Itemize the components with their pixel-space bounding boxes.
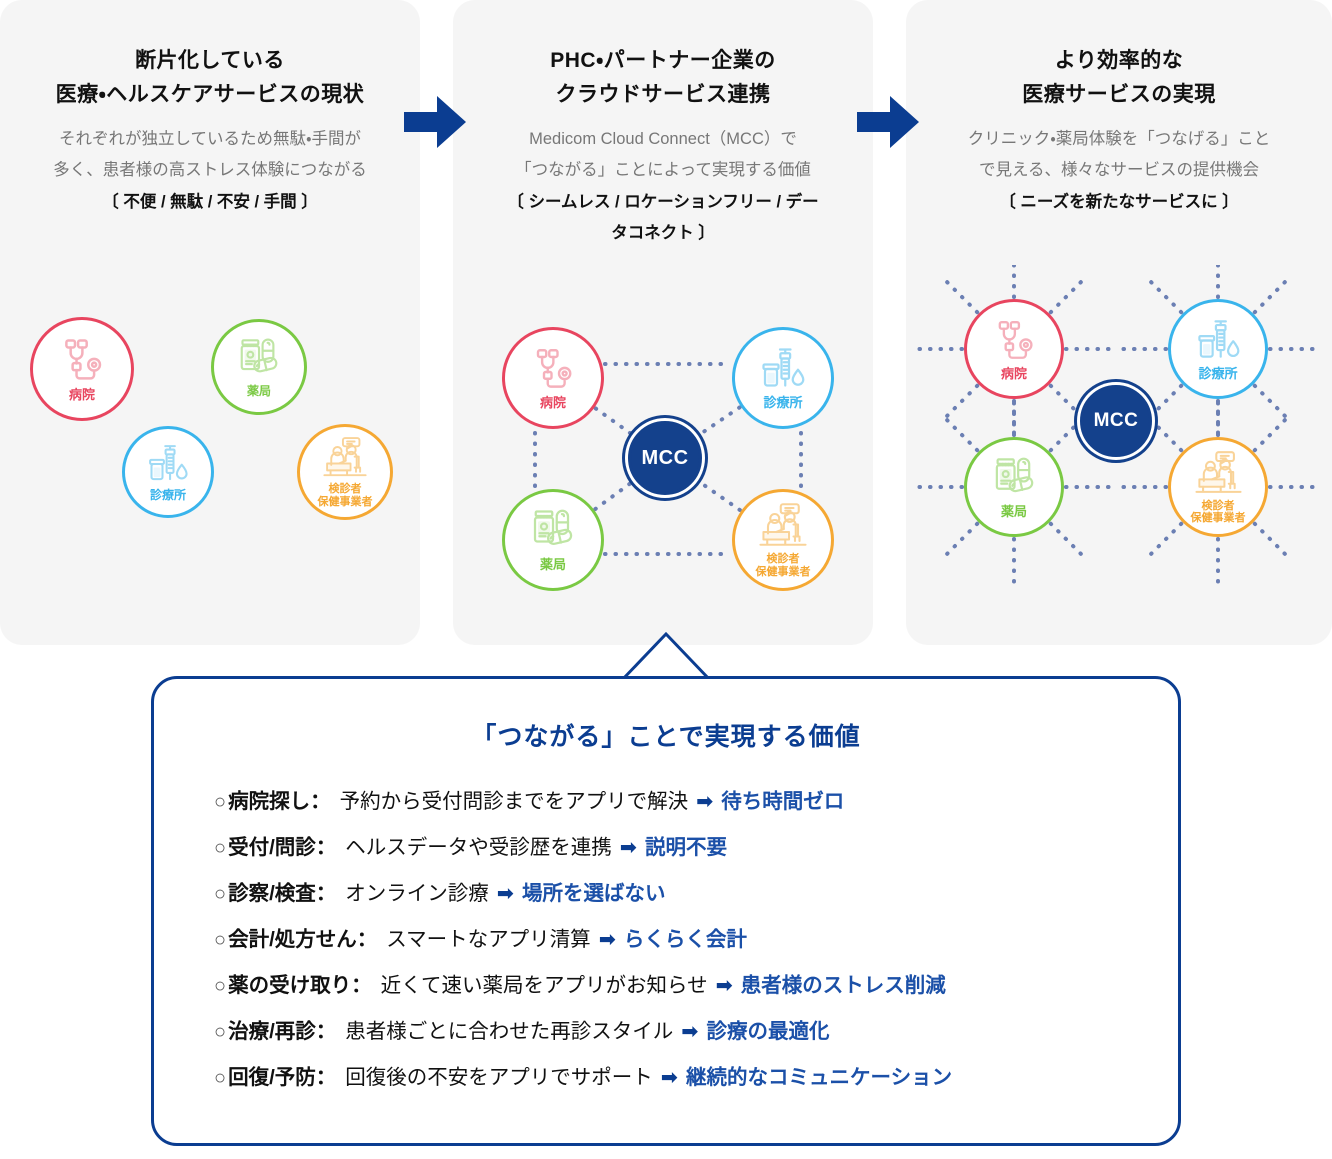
- value-result: 継続的なコミュニケーション: [686, 1055, 952, 1101]
- arrow-right-icon: [404, 92, 468, 152]
- value-colon: ：: [316, 1009, 337, 1055]
- panel-title-line2: 医療サービスの実現: [922, 78, 1316, 112]
- node-examiner: 検診者 保健事業者: [297, 424, 393, 520]
- value-label: 病院探し: [228, 779, 310, 825]
- value-description: 予約から受付問診までをアプリで解決: [340, 779, 689, 825]
- stethoscope-icon: [57, 335, 107, 385]
- node-label: 病院: [69, 388, 95, 403]
- panel-desc-line1: Medicom Cloud Connect（MCC）で: [471, 124, 855, 155]
- node-hospital: 病院: [502, 327, 604, 429]
- panel-description: クリニック・薬局体験を「つなげる」こと で見える、様々なサービスの提供機会: [906, 124, 1332, 186]
- value-result: 場所を選ばない: [522, 871, 666, 917]
- mcc-hub-label: MCC: [641, 447, 688, 470]
- value-result: らくらく会計: [624, 917, 747, 963]
- value-box-title: 「つながる」ことで実現する価値: [154, 717, 1178, 753]
- panel-title: 断片化している 医療・ヘルスケアサービスの現状: [0, 44, 420, 112]
- arrow-right-icon: ➡: [696, 779, 713, 825]
- syringe-vial-icon: [759, 345, 807, 393]
- panel-tags-line2: タコネクト 〕: [471, 218, 855, 249]
- bullet-circle-icon: ○: [214, 1055, 226, 1101]
- panel-description: Medicom Cloud Connect（MCC）で 「つながる」ことによって…: [453, 124, 873, 186]
- panel-title-line1: PHC・パートナー企業の: [469, 44, 857, 78]
- panel-title-line2: クラウドサービス連携: [469, 78, 857, 112]
- node-examiner: 検診者 保健事業者: [1168, 437, 1268, 537]
- consultation-desk-icon: [323, 436, 367, 480]
- node-label: 薬局: [540, 558, 566, 573]
- value-row: ○受付/問診：ヘルスデータや受診歴を連携➡説明不要: [214, 825, 1178, 871]
- value-label: 回復/予防: [228, 1055, 316, 1101]
- callout-pointer-icon: [620, 630, 712, 682]
- node-label: 診療所: [1198, 367, 1237, 382]
- node-label: 病院: [1001, 367, 1027, 382]
- value-colon: ：: [316, 871, 337, 917]
- stethoscope-icon: [991, 317, 1038, 364]
- consultation-desk-icon: [759, 502, 807, 550]
- bullet-circle-icon: ○: [214, 779, 226, 825]
- node-clinic: 診療所: [122, 426, 214, 518]
- node-label: 検診者 保健事業者: [756, 553, 811, 578]
- value-result: 説明不要: [645, 825, 727, 871]
- consultation-desk-icon: [1195, 450, 1242, 497]
- node-hospital: 病院: [30, 317, 134, 421]
- panel-description: それぞれが独立しているため無駄・手間が 多く、患者様の高ストレス体験につながる: [0, 124, 420, 186]
- panel-desc-line2: 「つながる」ことによって実現する価値: [471, 155, 855, 186]
- stethoscope-icon: [529, 345, 577, 393]
- medicine-bottle-icon: [236, 336, 282, 382]
- node-pharmacy: 薬局: [211, 319, 307, 415]
- value-result: 待ち時間ゼロ: [721, 779, 844, 825]
- bullet-circle-icon: ○: [214, 917, 226, 963]
- node-pharmacy: 薬局: [964, 437, 1064, 537]
- bullet-circle-icon: ○: [214, 1009, 226, 1055]
- syringe-vial-icon: [146, 442, 190, 486]
- node-examiner: 検診者 保健事業者: [732, 489, 834, 591]
- value-colon: ：: [357, 917, 378, 963]
- medicine-bottle-icon: [991, 455, 1038, 502]
- panel-tags: 〔 シームレス / ロケーションフリー / デー タコネクト 〕: [453, 187, 873, 249]
- node-label: 検診者 保健事業者: [1191, 500, 1246, 525]
- panel-title: より効率的な 医療サービスの実現: [906, 44, 1332, 112]
- panel-desc-line2: で見える、様々なサービスの提供機会: [924, 155, 1314, 186]
- node-label: 診療所: [763, 396, 802, 411]
- value-description: ヘルスデータや受診歴を連携: [345, 825, 612, 871]
- diagram-stage: 断片化している 医療・ヘルスケアサービスの現状 それぞれが独立しているため無駄・…: [0, 0, 1332, 1159]
- value-description: スマートなアプリ清算: [386, 917, 590, 963]
- mcc-hub-label: MCC: [1094, 410, 1139, 432]
- arrow-right-icon: ➡: [681, 1009, 698, 1055]
- node-pharmacy: 薬局: [502, 489, 604, 591]
- value-row: ○診察/検査：オンライン診療➡場所を選ばない: [214, 871, 1178, 917]
- panel-title: PHC・パートナー企業の クラウドサービス連携: [453, 44, 873, 112]
- bullet-circle-icon: ○: [214, 825, 226, 871]
- arrow-right-icon: ➡: [620, 825, 637, 871]
- value-colon: ：: [316, 825, 337, 871]
- panel-title-line1: 断片化している: [16, 44, 404, 78]
- value-colon: ：: [316, 1055, 337, 1101]
- value-callout-box: 「つながる」ことで実現する価値 ○病院探し：予約から受付問診までをアプリで解決➡…: [151, 676, 1181, 1146]
- arrow-right-icon: ➡: [497, 871, 514, 917]
- node-clinic: 診療所: [732, 327, 834, 429]
- value-description: 患者様ごとに合わせた再診スタイル: [345, 1009, 673, 1055]
- value-label: 治療/再診: [228, 1009, 316, 1055]
- arrow-right-icon: ➡: [661, 1055, 678, 1101]
- node-label: 薬局: [1001, 505, 1027, 520]
- arrow-right-icon: [857, 92, 921, 152]
- value-result: 診療の最適化: [706, 1009, 829, 1055]
- arrow-right-icon: ➡: [716, 963, 733, 1009]
- value-colon: ：: [351, 963, 372, 1009]
- bullet-circle-icon: ○: [214, 871, 226, 917]
- node-clinic: 診療所: [1168, 299, 1268, 399]
- panel-desc-line1: それぞれが独立しているため無駄・手間が: [18, 124, 402, 155]
- panel-desc-line1: クリニック・薬局体験を「つなげる」こと: [924, 124, 1314, 155]
- node-label: 診療所: [150, 489, 186, 502]
- value-description: オンライン診療: [345, 871, 489, 917]
- panel-title-line1: より効率的な: [922, 44, 1316, 78]
- mcc-hub-badge: MCC: [1080, 385, 1152, 457]
- value-label: 診察/検査: [228, 871, 316, 917]
- arrow-right-icon: ➡: [599, 917, 616, 963]
- panel-title-line2: 医療・ヘルスケアサービスの現状: [16, 78, 404, 112]
- node-label: 薬局: [247, 385, 271, 398]
- value-row: ○病院探し：予約から受付問診までをアプリで解決➡待ち時間ゼロ: [214, 779, 1178, 825]
- syringe-vial-icon: [1195, 317, 1242, 364]
- node-label: 検診者 保健事業者: [318, 483, 373, 508]
- value-label: 薬の受け取り: [228, 963, 351, 1009]
- panel-tags-line1: 〔 シームレス / ロケーションフリー / デー: [471, 187, 855, 218]
- value-label: 会計/処方せん: [228, 917, 357, 963]
- value-colon: ：: [310, 779, 331, 825]
- value-row: ○回復/予防：回復後の不安をアプリでサポート➡継続的なコミュニケーション: [214, 1055, 1178, 1101]
- panel-tags: 〔 不便 / 無駄 / 不安 / 手間 〕: [0, 187, 420, 218]
- value-description: 近くて速い薬局をアプリがお知らせ: [381, 963, 708, 1009]
- mcc-hub-badge: MCC: [628, 421, 702, 495]
- value-row: ○会計/処方せん：スマートなアプリ清算➡らくらく会計: [214, 917, 1178, 963]
- node-hospital: 病院: [964, 299, 1064, 399]
- medicine-bottle-icon: [529, 507, 577, 555]
- node-label: 病院: [540, 396, 566, 411]
- value-row: ○治療/再診：患者様ごとに合わせた再診スタイル➡診療の最適化: [214, 1009, 1178, 1055]
- value-result: 患者様のストレス削減: [741, 963, 946, 1009]
- panel-tags: 〔 ニーズを新たなサービスに 〕: [906, 187, 1332, 218]
- value-list: ○病院探し：予約から受付問診までをアプリで解決➡待ち時間ゼロ○受付/問診：ヘルス…: [214, 779, 1178, 1101]
- value-row: ○薬の受け取り：近くて速い薬局をアプリがお知らせ➡患者様のストレス削減: [214, 963, 1178, 1009]
- value-label: 受付/問診: [228, 825, 316, 871]
- value-description: 回復後の不安をアプリでサポート: [345, 1055, 653, 1101]
- panel-desc-line2: 多く、患者様の高ストレス体験につながる: [18, 155, 402, 186]
- bullet-circle-icon: ○: [214, 963, 226, 1009]
